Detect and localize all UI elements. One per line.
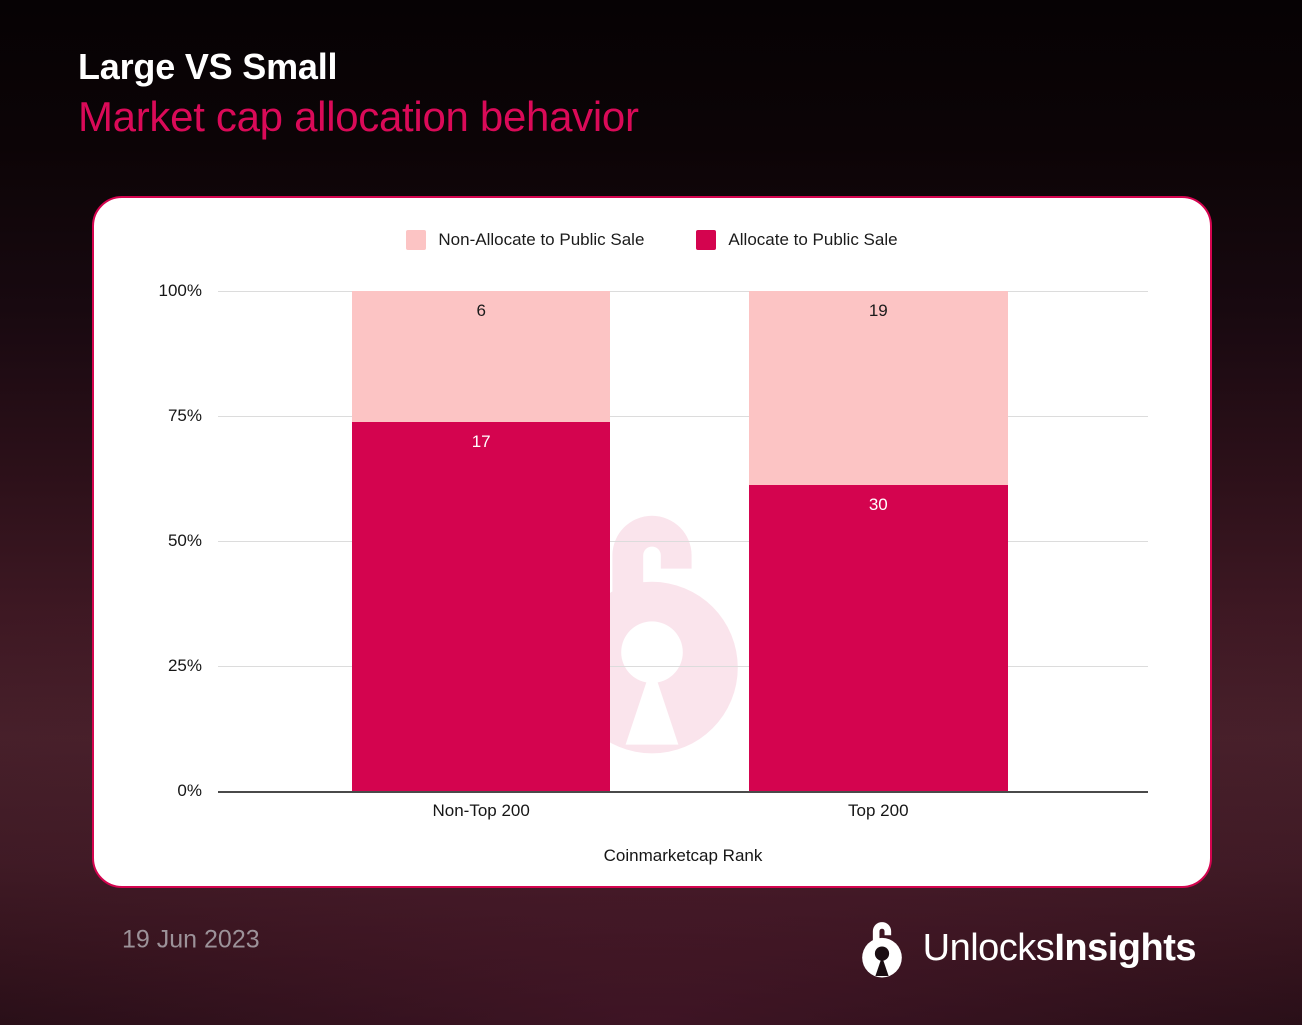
ytick-label-0: 0% xyxy=(177,781,202,801)
bar-value-label-allocate: 30 xyxy=(869,495,888,791)
header: Large VS Small Market cap allocation beh… xyxy=(78,46,978,144)
bar-group-non-top-200[interactable]: 6 17 Non-Top 200 xyxy=(352,291,611,791)
brand-text-bold: Insights xyxy=(1054,927,1196,969)
ytick-label-75: 75% xyxy=(168,406,202,426)
bar-group-top-200[interactable]: 19 30 Top 200 xyxy=(749,291,1008,791)
brand-text-light: Unlocks xyxy=(923,927,1055,969)
bar-segment-allocate[interactable]: 17 xyxy=(352,422,611,792)
ytick-label-100: 100% xyxy=(159,281,202,301)
legend-swatch-allocate xyxy=(696,230,716,250)
open-padlock-icon xyxy=(855,917,909,979)
legend-item-non-allocate[interactable]: Non-Allocate to Public Sale xyxy=(406,230,644,250)
ytick-label-25: 25% xyxy=(168,656,202,676)
page-subtitle: Market cap allocation behavior xyxy=(78,91,978,144)
legend-label-allocate: Allocate to Public Sale xyxy=(728,230,897,250)
bar-value-label-non-allocate: 6 xyxy=(476,301,485,422)
bar-segment-non-allocate[interactable]: 19 xyxy=(749,291,1008,485)
bar-segment-allocate[interactable]: 30 xyxy=(749,485,1008,791)
legend-label-non-allocate: Non-Allocate to Public Sale xyxy=(438,230,644,250)
x-axis-title: Coinmarketcap Rank xyxy=(218,846,1148,866)
footer-date: 19 Jun 2023 xyxy=(122,926,260,955)
xtick-label-non-top-200: Non-Top 200 xyxy=(352,801,611,821)
bar-segment-non-allocate[interactable]: 6 xyxy=(352,291,611,422)
bar-value-label-non-allocate: 19 xyxy=(869,301,888,485)
x-axis-line: 0% xyxy=(218,791,1148,793)
brand-logo: UnlocksInsights xyxy=(855,917,1196,979)
legend-swatch-non-allocate xyxy=(406,230,426,250)
chart-card: Non-Allocate to Public Sale Allocate to … xyxy=(92,196,1212,888)
plot-area: 100% 75% 50% 25% 0% 6 17 Non-Top 200 19 xyxy=(218,291,1148,791)
legend-item-allocate[interactable]: Allocate to Public Sale xyxy=(696,230,897,250)
bar-value-label-allocate: 17 xyxy=(472,432,491,792)
xtick-label-top-200: Top 200 xyxy=(749,801,1008,821)
chart-legend: Non-Allocate to Public Sale Allocate to … xyxy=(94,230,1210,250)
page-title: Large VS Small xyxy=(78,46,978,87)
brand-text: UnlocksInsights xyxy=(923,927,1196,970)
ytick-label-50: 50% xyxy=(168,531,202,551)
